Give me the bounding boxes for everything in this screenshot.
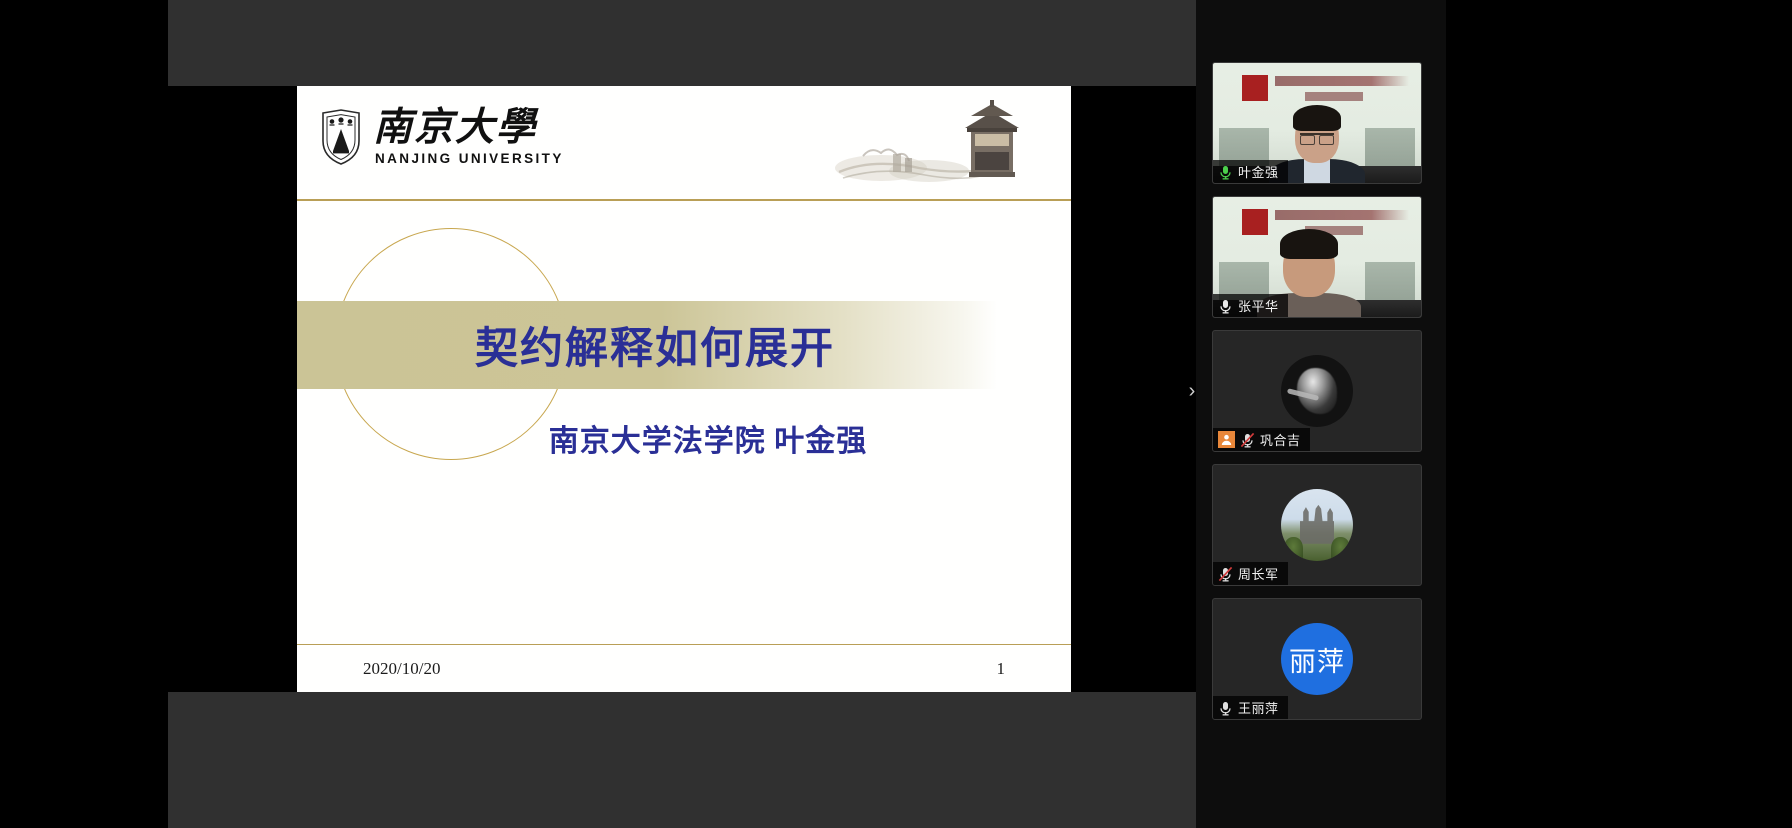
avatar xyxy=(1281,489,1353,561)
letterbox-right xyxy=(1646,0,1792,828)
share-side-left xyxy=(168,86,298,692)
footer-divider xyxy=(297,644,1071,646)
title-band: 契约解释如何展开 xyxy=(297,301,997,389)
slide-date: 2020/10/20 xyxy=(363,659,440,679)
share-top-band xyxy=(168,0,1196,86)
slide-page-number: 1 xyxy=(997,659,1006,679)
participant-name: 周长军 xyxy=(1238,564,1279,583)
participant-nameplate: 巩合吉 xyxy=(1213,428,1310,451)
nju-name-cn: 南京大學 xyxy=(373,108,564,148)
gate-watercolor-icon xyxy=(833,98,1029,198)
microphone-active-icon xyxy=(1218,164,1233,180)
zoom-meeting-window: 南京大學 NANJING UNIVERSITY xyxy=(0,0,1792,828)
letterbox-left xyxy=(0,0,168,828)
share-side-right xyxy=(1071,86,1196,692)
participant-nameplate: 王丽萍 xyxy=(1213,696,1288,719)
participant-name: 巩合吉 xyxy=(1260,430,1301,449)
presentation-slide: 南京大學 NANJING UNIVERSITY xyxy=(297,86,1071,692)
slide-header: 南京大學 NANJING UNIVERSITY xyxy=(297,86,1071,200)
nanjing-university-logo: 南京大學 NANJING UNIVERSITY xyxy=(319,108,564,166)
participant-rail: 叶金强 xyxy=(1196,0,1446,828)
nju-name-en: NANJING UNIVERSITY xyxy=(375,151,564,166)
slide-title: 契约解释如何展开 xyxy=(475,314,835,376)
participant-tile[interactable]: 张平华 xyxy=(1212,196,1422,318)
microphone-icon xyxy=(1218,298,1233,314)
participant-name: 叶金强 xyxy=(1238,162,1279,181)
share-bottom-band xyxy=(168,692,1196,828)
participant-nameplate: 叶金强 xyxy=(1213,160,1288,183)
avatar xyxy=(1281,355,1353,427)
participant-tile[interactable]: 丽萍 王丽萍 xyxy=(1212,598,1422,720)
slide-subtitle: 南京大学法学院 叶金强 xyxy=(321,416,1071,460)
participant-tile[interactable]: 周长军 xyxy=(1212,464,1422,586)
participant-name: 张平华 xyxy=(1238,296,1279,315)
microphone-muted-icon xyxy=(1218,700,1233,716)
host-person-icon xyxy=(1218,431,1235,448)
participant-tile[interactable]: 巩合吉 xyxy=(1212,330,1422,452)
participant-name: 王丽萍 xyxy=(1238,698,1279,717)
nju-crest-icon xyxy=(319,109,363,165)
nju-wordmark: 南京大學 NANJING UNIVERSITY xyxy=(373,108,564,166)
avatar: 丽萍 xyxy=(1281,623,1353,695)
screen-share-area[interactable]: 南京大學 NANJING UNIVERSITY xyxy=(168,0,1196,828)
header-divider xyxy=(297,199,1071,201)
avatar-initials: 丽萍 xyxy=(1289,640,1345,679)
participant-nameplate: 周长军 xyxy=(1213,562,1288,585)
microphone-muted-icon xyxy=(1218,566,1233,582)
microphone-muted-icon xyxy=(1240,432,1255,448)
participant-tile[interactable]: 叶金强 xyxy=(1212,62,1422,184)
participant-nameplate: 张平华 xyxy=(1213,294,1288,317)
